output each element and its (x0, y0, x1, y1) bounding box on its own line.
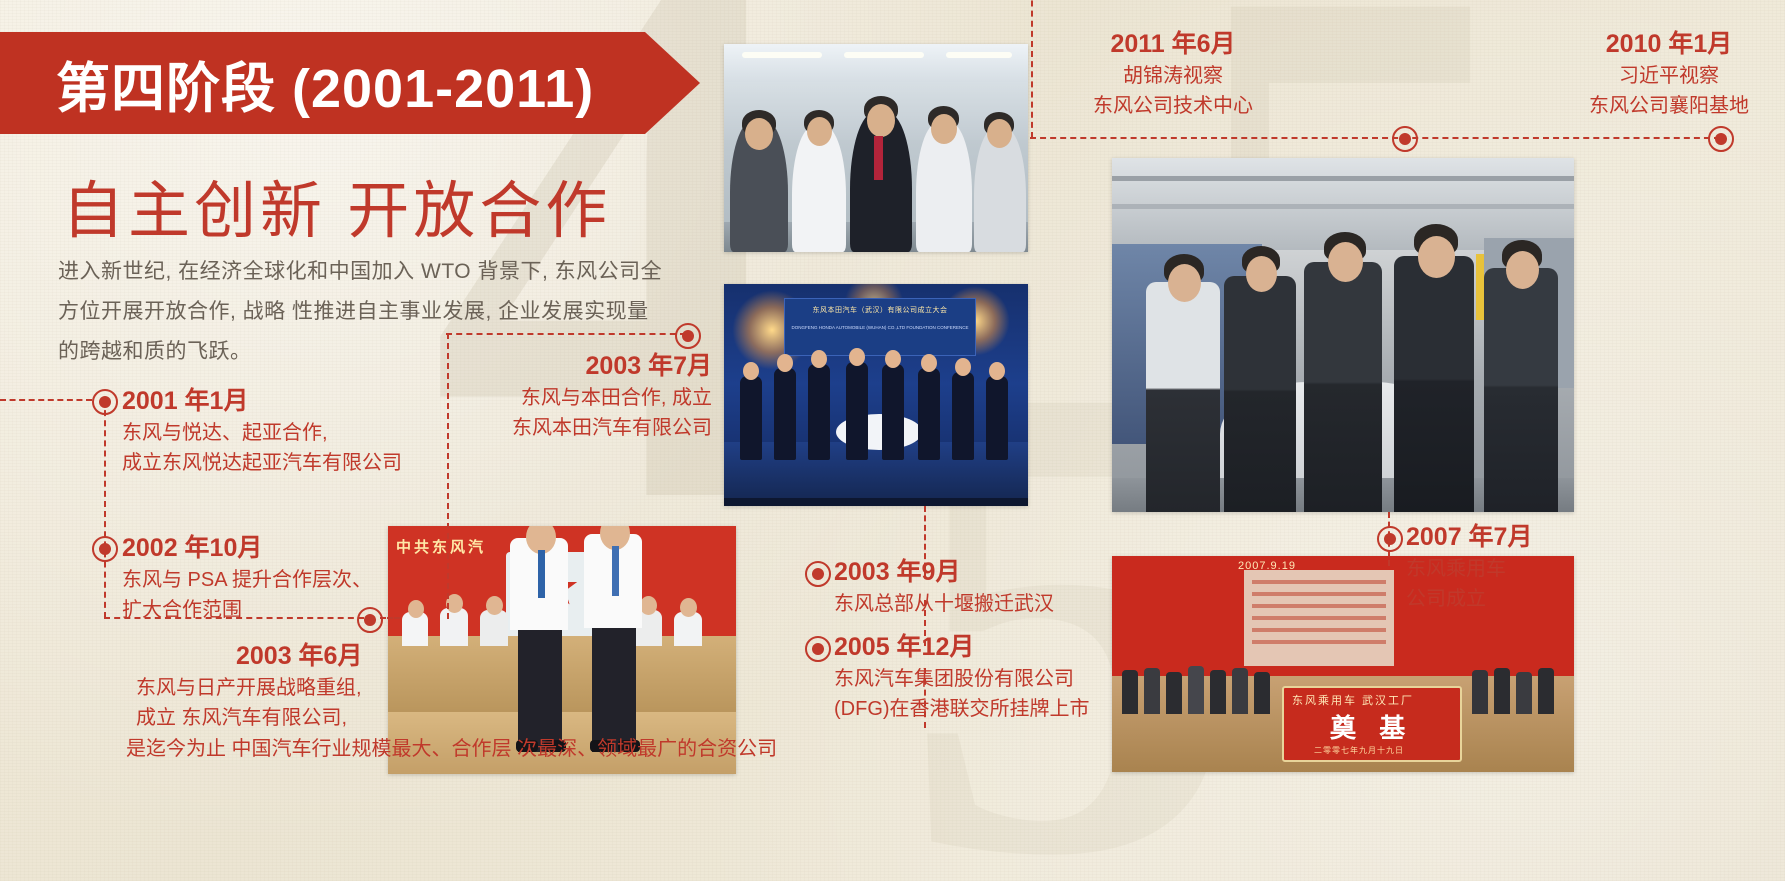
event-2003-09: 2003 年9月 东风总部从十堰搬迁武汉 (834, 556, 1054, 619)
event-2010-01-date: 2010 年1月 (1559, 28, 1779, 61)
event-2003-06-date: 2003 年6月 (236, 640, 796, 673)
connector-into-2001 (0, 399, 92, 401)
event-2001-01: 2001 年1月 东风与悦达、起亚合作, 成立东风悦达起亚汽车有限公司 (122, 385, 402, 479)
event-2003-07-date: 2003 年7月 (450, 350, 712, 383)
photo-date-stamp: 2007.9.19 (1238, 560, 1296, 572)
event-2003-09-line1: 东风总部从十堰搬迁武汉 (834, 589, 1054, 619)
event-2003-07: 2003 年7月 东风与本田合作, 成立 东风本田汽车有限公司 (450, 350, 712, 444)
section-title-banner: 第四阶段 (2001-2011) (0, 32, 700, 134)
connector-top-right (1030, 137, 1720, 139)
conference-banner-cn: 东风本田汽车（武汉）有限公司成立大会 (791, 305, 969, 315)
event-2003-09-date: 2003 年9月 (834, 556, 1054, 589)
event-2005-12-date: 2005 年12月 (834, 631, 1090, 664)
marker-dot-2003jul[interactable] (675, 323, 701, 349)
event-2011-06-line2: 东风公司技术中心 (1043, 91, 1303, 121)
event-2003-06-line1: 东风与日产开展战略重组, (136, 673, 796, 703)
conference-banner: 东风本田汽车（武汉）有限公司成立大会 DONGFENG HONDA AUTOMO… (784, 298, 976, 356)
event-2001-01-line2: 成立东风悦达起亚汽车有限公司 (122, 448, 402, 478)
event-2007-07-line1: 东风乘用车 (1406, 554, 1532, 584)
connector-2003jun-to-photo (380, 617, 400, 619)
event-2001-01-date: 2001 年1月 (122, 385, 402, 418)
connector-left-spine (104, 400, 106, 618)
conference-banner-en: DONGFENG HONDA AUTOMOBILE (WUHAN) CO.,LT… (791, 325, 969, 332)
connector-top-right-riser (1031, 0, 1033, 138)
marker-dot-2005dec[interactable] (805, 636, 831, 662)
event-2011-06-line1: 胡锦涛视察 (1043, 61, 1303, 91)
groundbreaking-plaque: 东风乘用车 武汉工厂 奠 基 二零零七年九月十九日 (1282, 686, 1462, 762)
event-2003-07-line2: 东风本田汽车有限公司 (450, 413, 712, 443)
plaque-top-text: 东风乘用车 武汉工厂 (1292, 692, 1414, 708)
marker-dot-2010[interactable] (1708, 126, 1734, 152)
plaque-main-text: 奠 基 (1330, 708, 1413, 745)
marker-dot-2003sep[interactable] (805, 561, 831, 587)
event-2005-12-line1: 东风汽车集团股份有限公司 (834, 664, 1090, 694)
event-2007-07-date: 2007 年7月 (1406, 521, 1532, 554)
event-2003-07-line1: 东风与本田合作, 成立 (450, 383, 712, 413)
connector-to-2003jul (446, 333, 686, 335)
event-2002-10-date: 2002 年10月 (122, 532, 372, 565)
photo-xi-jinping-visit (1112, 158, 1574, 512)
event-2007-07: 2007 年7月 东风乘用车 公司成立 (1406, 521, 1532, 615)
section-title-text: 第四阶段 (2001-2011) (56, 44, 594, 123)
event-2007-07-line2: 公司成立 (1406, 584, 1532, 614)
event-2002-10-line1: 东风与 PSA 提升合作层次、 (122, 565, 372, 595)
event-2011-06: 2011 年6月 胡锦涛视察 东风公司技术中心 (1043, 28, 1303, 122)
connector-2003jul-drop (447, 333, 449, 619)
event-2003-06-line2: 成立 东风汽车有限公司, (136, 703, 796, 733)
marker-dot-2007[interactable] (1377, 526, 1403, 552)
marker-dot-2002[interactable] (92, 536, 118, 562)
marker-dot-2011[interactable] (1392, 126, 1418, 152)
photo-hu-jintao-visit (724, 44, 1028, 252)
event-2011-06-date: 2011 年6月 (1043, 28, 1303, 61)
event-2002-10-line2: 扩大合作范围 (122, 595, 372, 625)
event-2005-12-line2: (DFG)在香港联交所挂牌上市 (834, 694, 1090, 724)
infographic-canvas: 4 5 5 第四阶段 (2001-2011) 自主创新 开放合作 进入新世纪, … (0, 0, 1785, 881)
event-2002-10: 2002 年10月 东风与 PSA 提升合作层次、 扩大合作范围 (122, 532, 372, 626)
event-2005-12: 2005 年12月 东风汽车集团股份有限公司 (DFG)在香港联交所挂牌上市 (834, 631, 1090, 725)
party-banner-text: 中共东风汽 (396, 536, 486, 557)
plaque-bottom-text: 二零零七年九月十九日 (1314, 745, 1404, 756)
event-2010-01: 2010 年1月 习近平视察 东风公司襄阳基地 (1559, 28, 1779, 122)
event-2010-01-line1: 习近平视察 (1559, 61, 1779, 91)
event-2001-01-line1: 东风与悦达、起亚合作, (122, 418, 402, 448)
event-2010-01-line2: 东风公司襄阳基地 (1559, 91, 1779, 121)
page-headline: 自主创新 开放合作 (62, 160, 611, 250)
photo-honda-foundation-conference: 东风本田汽车（武汉）有限公司成立大会 DONGFENG HONDA AUTOMO… (724, 284, 1028, 506)
event-2003-06-line3: 是迄今为止 中国汽车行业规模最大、合作层 次最深、领域最广的合资公司 (126, 734, 796, 764)
event-2003-06: 2003 年6月 东风与日产开展战略重组, 成立 东风汽车有限公司, 是迄今为止… (126, 640, 796, 764)
marker-dot-2001[interactable] (92, 389, 118, 415)
